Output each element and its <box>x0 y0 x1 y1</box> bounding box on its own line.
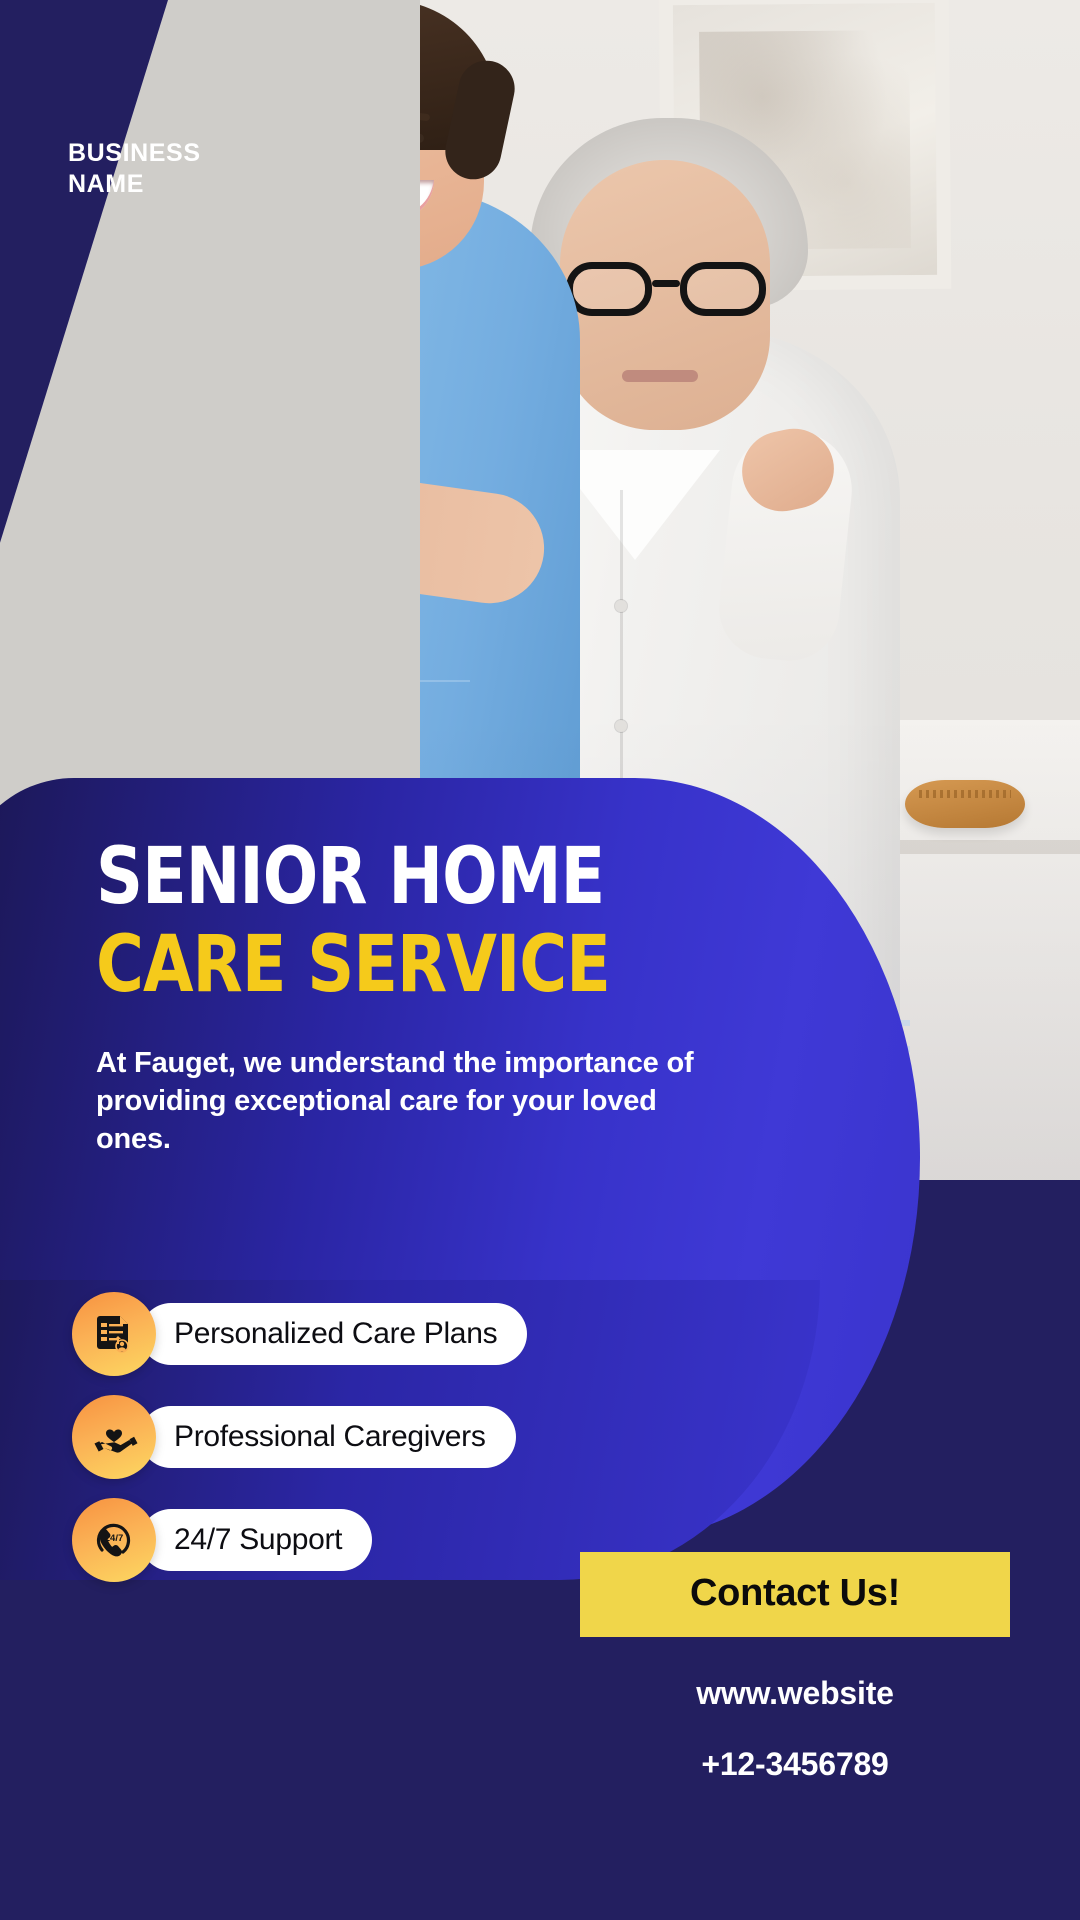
svg-text:24/7: 24/7 <box>105 1533 124 1544</box>
feature-label-professional-caregivers: Professional Caregivers <box>140 1406 516 1468</box>
poster-canvas: BUSINESS NAME SENIOR HOME CARE SERVICE A… <box>0 0 1080 1920</box>
care-plan-document-icon <box>72 1292 156 1376</box>
feature-label-24-7-support: 24/7 Support <box>140 1509 372 1571</box>
headline-block: SENIOR HOME CARE SERVICE At Fauget, we u… <box>96 842 736 1159</box>
feature-label-personalized-care-plans: Personalized Care Plans <box>140 1303 527 1365</box>
heart-in-hands-icon <box>72 1395 156 1479</box>
business-name-line2: NAME <box>68 169 201 200</box>
feature-list: Personalized Care Plans Professional Car… <box>72 1292 527 1601</box>
headline-line-2: CARE SERVICE <box>96 928 691 1002</box>
website-text[interactable]: www.website <box>580 1675 1010 1712</box>
headline-line-1: SENIOR HOME <box>96 842 691 914</box>
phone-number-text[interactable]: +12-3456789 <box>580 1746 1010 1783</box>
feature-item-professional-caregivers[interactable]: Professional Caregivers <box>72 1395 527 1479</box>
subtext-paragraph: At Fauget, we understand the importance … <box>96 1044 696 1159</box>
contact-block: Contact Us! www.website +12-3456789 <box>580 1552 1010 1783</box>
contact-us-button[interactable]: Contact Us! <box>580 1552 1010 1637</box>
24-7-phone-support-icon: 24/7 <box>72 1498 156 1582</box>
feature-item-24-7-support[interactable]: 24/7 24/7 Support <box>72 1498 527 1582</box>
feature-item-personalized-care-plans[interactable]: Personalized Care Plans <box>72 1292 527 1376</box>
business-name: BUSINESS NAME <box>68 138 201 201</box>
business-name-line1: BUSINESS <box>68 138 201 169</box>
